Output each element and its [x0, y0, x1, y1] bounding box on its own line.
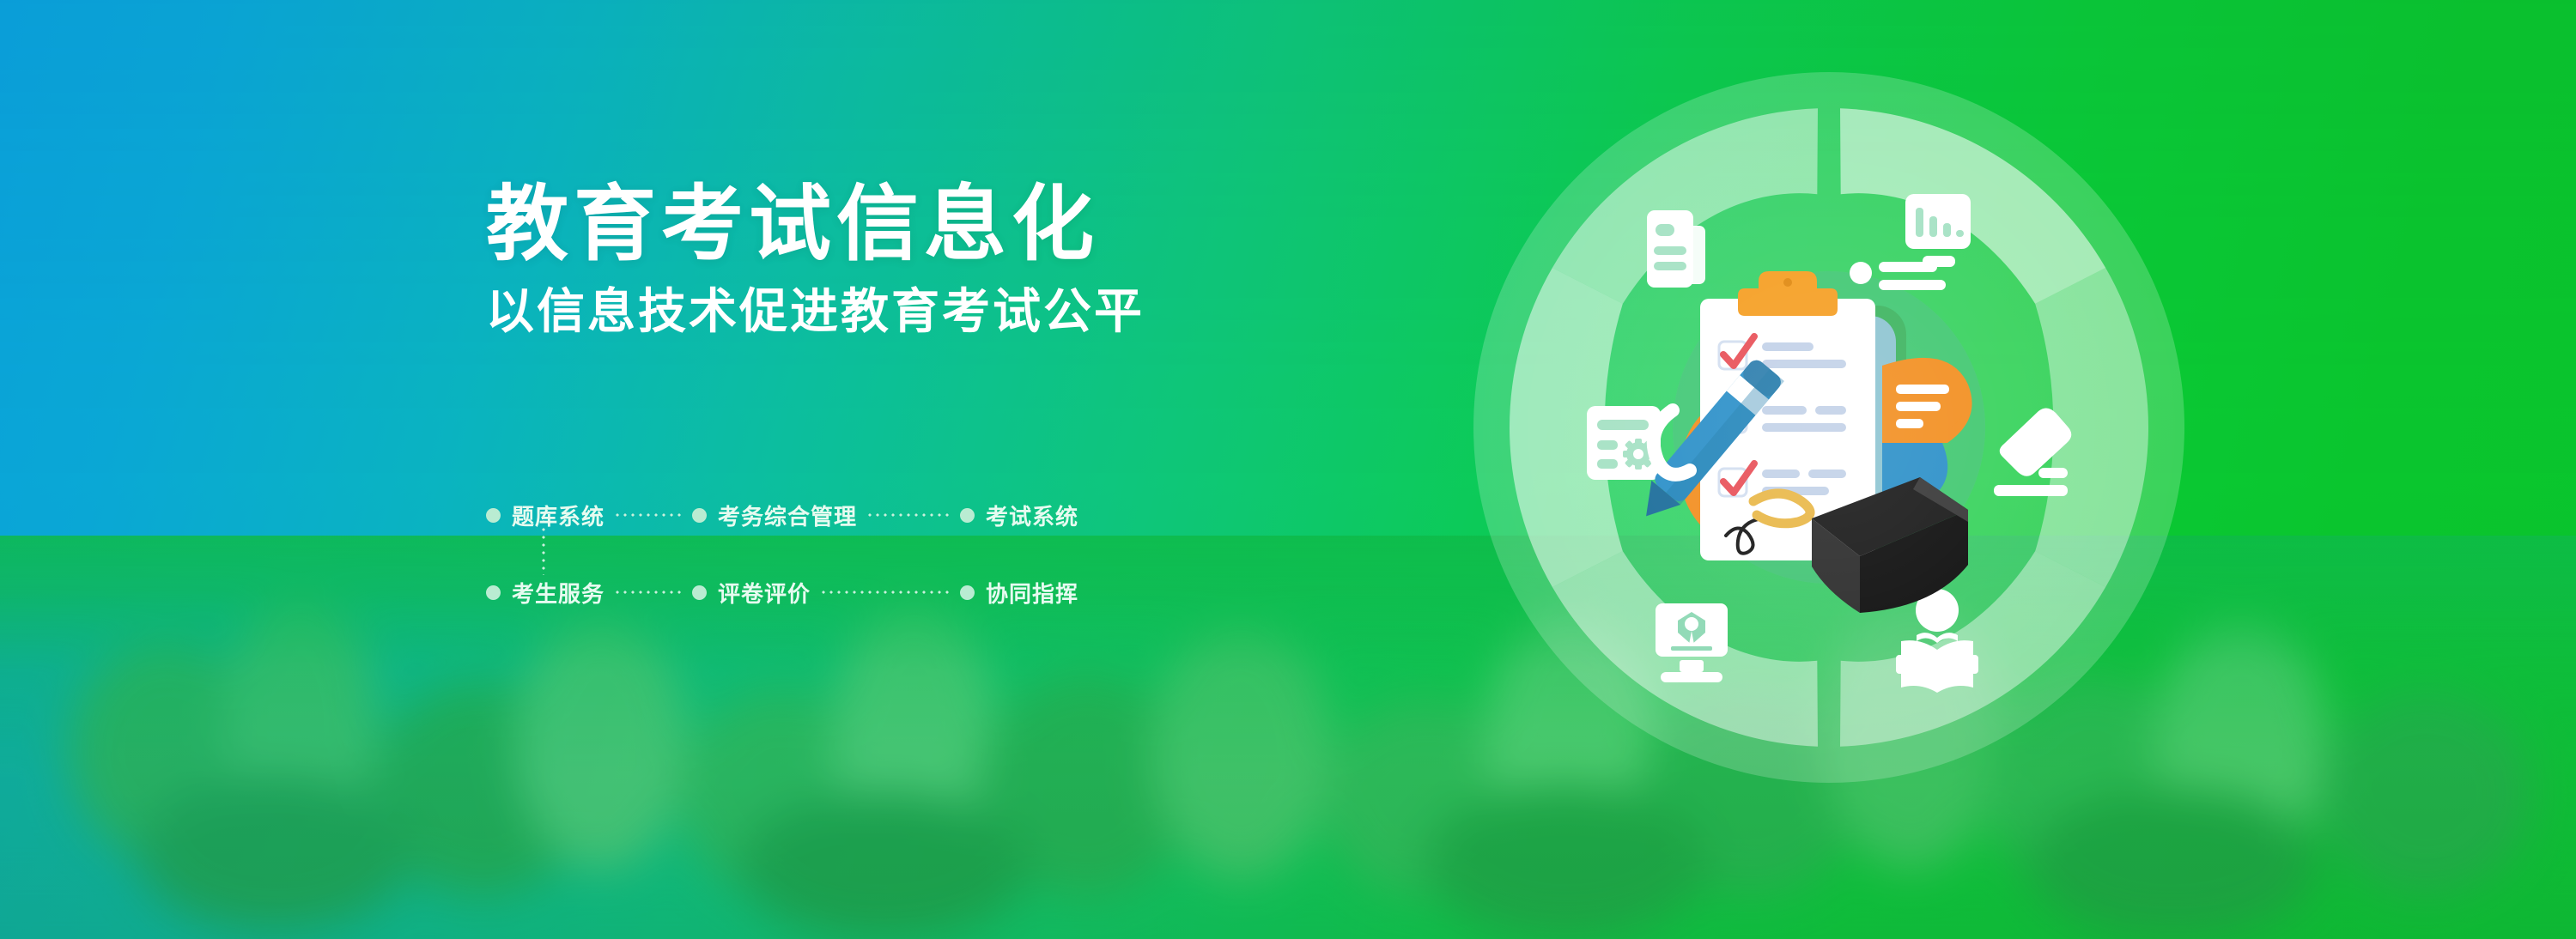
feature-label: 评卷评价 [718, 577, 811, 609]
feature-item-collaborative-command[interactable]: 协同指挥 [960, 577, 1078, 609]
feature-item-exam-admin[interactable]: 考务综合管理 [692, 500, 857, 531]
bullet-dot-icon [486, 585, 501, 600]
dotted-connector [616, 513, 681, 517]
feature-label: 考生服务 [512, 577, 605, 609]
feature-row-1: 题库系统 考务综合管理 考试系统 [486, 496, 1259, 534]
feature-label: 协同指挥 [986, 577, 1078, 609]
page-subtitle: 以信息技术促进教育考试公平 [486, 285, 1345, 340]
feature-item-question-bank[interactable]: 题库系统 [486, 500, 605, 531]
dotted-connector [616, 591, 681, 594]
bullet-dot-icon [960, 508, 975, 523]
dotted-connector [822, 591, 949, 594]
headline-block: 教育考试信息化 以信息技术促进教育考试公平 [486, 180, 1345, 340]
bullet-dot-icon [692, 585, 707, 600]
feature-label: 题库系统 [512, 500, 605, 531]
exam-system-wheel-graphic [1443, 41, 2215, 814]
feature-label: 考务综合管理 [718, 500, 857, 531]
bullet-dot-icon [960, 585, 975, 600]
feature-list: 题库系统 考务综合管理 考试系统 考生服务 评卷评价 [486, 496, 1259, 611]
feature-item-candidate-service[interactable]: 考生服务 [486, 577, 605, 609]
feature-item-exam-system[interactable]: 考试系统 [960, 500, 1078, 531]
education-exam-banner: 教育考试信息化 以信息技术促进教育考试公平 题库系统 考务综合管理 考试系统 [0, 0, 2576, 939]
bullet-dot-icon [486, 508, 501, 523]
bullet-dot-icon [692, 508, 707, 523]
feature-label: 考试系统 [986, 500, 1078, 531]
feature-item-marking-evaluation[interactable]: 评卷评价 [692, 577, 811, 609]
dotted-connector [868, 513, 949, 517]
feature-row-2: 考生服务 评卷评价 协同指挥 [486, 573, 1259, 611]
page-title: 教育考试信息化 [486, 180, 1345, 270]
